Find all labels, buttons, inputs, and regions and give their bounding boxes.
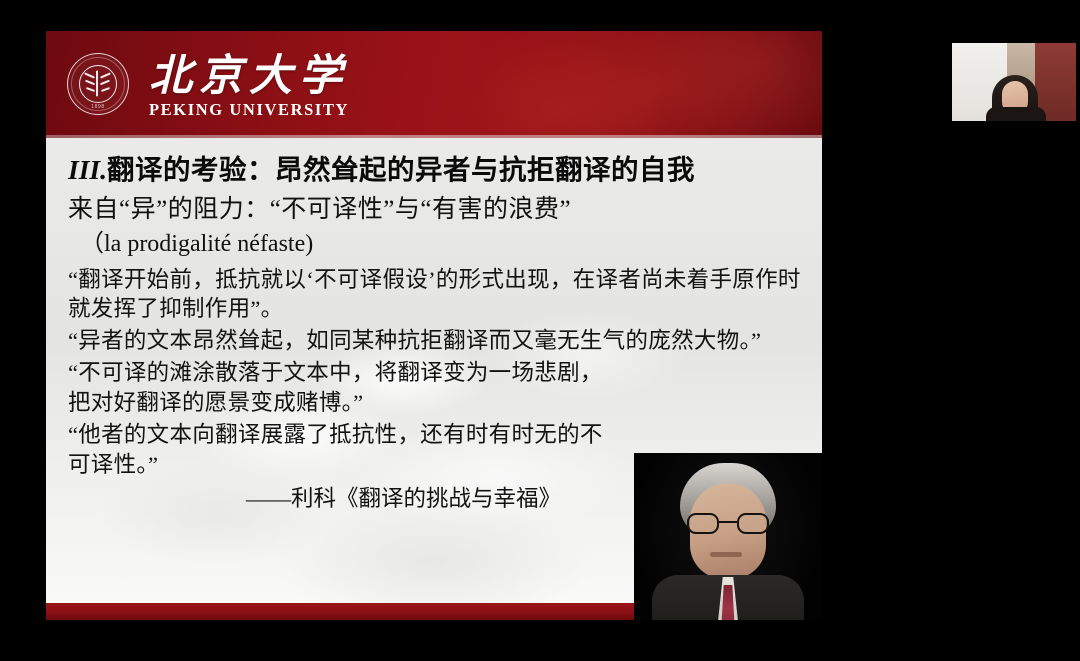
university-wordmark: 北京大学 PEKING UNIVERSITY — [149, 55, 349, 119]
slide-quote-1: “翻译开始前，抵抗就以‘不可译假设’的形式出现，在译者尚未着手原作时就发挥了抑制… — [68, 265, 810, 325]
wordmark-chinese: 北京大学 — [149, 55, 349, 98]
screen-share-view: 1898 北京大学 PEKING UNIVERSITY III.翻译的考验：昂然… — [0, 0, 1080, 661]
portrait-glasses-icon — [686, 513, 770, 535]
presenter-webcam-feed[interactable] — [952, 43, 1076, 121]
portrait-mouth — [710, 552, 742, 557]
slide-quote-4: “他者的文本向翻译展露了抵抗性，还有时有时无的不可译性。” — [68, 420, 608, 480]
slide-quote-3: “不可译的滩涂散落于文本中，将翻译变为一场悲剧，把对好翻译的愿景变成赌博。” — [68, 358, 608, 418]
wordmark-english: PEKING UNIVERSITY — [149, 102, 349, 119]
slide-subtitle-french: （la prodigalité néfaste) — [68, 229, 810, 259]
slide-quote-2: “异者的文本昂然耸起，如同某种抗拒翻译而又毫无生气的庞然大物。” — [68, 326, 810, 356]
slide-subtitle: 来自“异”的阻力：“不可译性”与“有害的浪费” — [68, 194, 810, 227]
slide-title-number: III. — [68, 154, 107, 185]
presentation-slide: 1898 北京大学 PEKING UNIVERSITY III.翻译的考验：昂然… — [46, 31, 822, 620]
slide-title: III.翻译的考验：昂然耸起的异者与抗拒翻译的自我 — [68, 150, 810, 189]
seal-glyph — [83, 70, 113, 96]
portrait-paul-ricoeur — [634, 453, 822, 620]
peking-university-seal-icon: 1898 — [67, 53, 129, 115]
slide-title-text: 翻译的考验：昂然耸起的异者与抗拒翻译的自我 — [107, 154, 695, 185]
webcam-presenter-body — [986, 107, 1046, 121]
seal-year: 1898 — [91, 104, 105, 110]
slide-header-banner: 1898 北京大学 PEKING UNIVERSITY — [46, 31, 822, 138]
